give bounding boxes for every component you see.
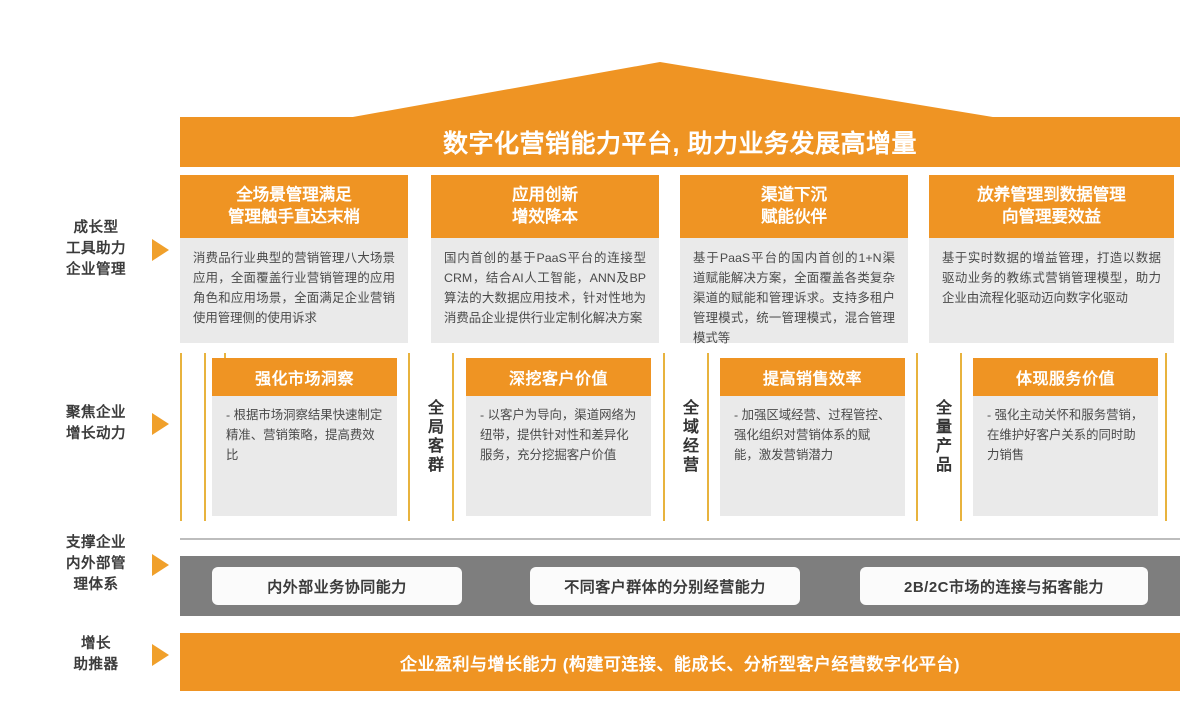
bracket-left-edge [180,353,206,521]
diagram-canvas: 数字化营销能力平台, 助力业务发展高增量 成长型 工具助力 企业管理 聚焦企业 … [0,0,1202,724]
capability-row: 强化市场洞察 - 根据市场洞察结果快速制定精准、营销策略，提高费效比 全局客群 … [180,358,1180,518]
capability-card-title: 提高销售效率 [720,358,905,396]
capability-card[interactable]: 强化市场洞察 - 根据市场洞察结果快速制定精准、营销策略，提高费效比 [212,358,397,516]
top-card-body: 国内首创的基于PaaS平台的连接型CRM，结合AI人工智能，ANN及BP算法的大… [431,238,659,328]
capability-card-body: - 强化主动关怀和服务营销，在维护好客户关系的同时助力销售 [973,396,1158,465]
bracket-label: 全域经营 [665,353,711,521]
capability-card-body: - 以客户为导向，渠道网络为纽带，提供针对性和差异化服务，充分挖掘客户价值 [466,396,651,465]
top-card-title: 渠道下沉 赋能伙伴 [680,175,908,238]
triangle-arrow-icon [152,554,169,576]
axis-label-growth-tools: 成长型 工具助力 企业管理 [48,218,169,281]
support-pill[interactable]: 不同客户群体的分别经营能力 [530,567,800,605]
top-card[interactable]: 全场景管理满足 管理触手直达末梢 消费品行业典型的营销管理八大场景应用，全面覆盖… [180,175,408,343]
bracket-quanju-kequn: 全局客群 [408,353,454,521]
capability-card-title: 强化市场洞察 [212,358,397,396]
support-pill[interactable]: 内外部业务协同能力 [212,567,462,605]
capability-card[interactable]: 深挖客户价值 - 以客户为导向，渠道网络为纽带，提供针对性和差异化服务，充分挖掘… [466,358,651,516]
bracket-label: 全量产品 [918,353,964,521]
capability-card[interactable]: 体现服务价值 - 强化主动关怀和服务营销，在维护好客户关系的同时助力销售 [973,358,1158,516]
top-card-title: 全场景管理满足 管理触手直达末梢 [180,175,408,238]
axis-label-text: 聚焦企业 增长动力 [48,403,144,445]
triangle-arrow-icon [152,239,169,261]
top-card-title: 应用创新 增效降本 [431,175,659,238]
divider-line [180,538,1180,540]
capability-card[interactable]: 提高销售效率 - 加强区域经营、过程管控、强化组织对营销体系的赋能，激发营销潜力 [720,358,905,516]
roof-title: 数字化营销能力平台, 助力业务发展高增量 [443,124,917,160]
triangle-arrow-icon [152,644,169,666]
capability-card-body: - 加强区域经营、过程管控、强化组织对营销体系的赋能，激发营销潜力 [720,396,905,465]
capability-card-body: - 根据市场洞察结果快速制定精准、营销策略，提高费效比 [212,396,397,465]
axis-label-growth-drivers: 聚焦企业 增长动力 [48,403,169,445]
axis-label-text: 支撑企业 内外部管 理体系 [48,533,144,596]
top-card-body: 基于PaaS平台的国内首创的1+N渠道赋能解决方案，全面覆盖各类复杂渠道的赋能和… [680,238,908,348]
axis-label-text: 成长型 工具助力 企业管理 [48,218,144,281]
axis-label-support-system: 支撑企业 内外部管 理体系 [48,533,169,596]
axis-label-text: 增长 助推器 [48,634,144,676]
capability-card-title: 深挖客户价值 [466,358,651,396]
top-card[interactable]: 放养管理到数据管理 向管理要效益 基于实时数据的增益管理，打造以数据驱动业务的教… [929,175,1174,343]
foundation-band: 企业盈利与增长能力 (构建可连接、能成长、分析型客户经营数字化平台) [180,633,1180,691]
top-card-row: 全场景管理满足 管理触手直达末梢 消费品行业典型的营销管理八大场景应用，全面覆盖… [180,175,1180,343]
bracket-label: 全局客群 [410,353,456,521]
bracket-quanyu-jingying: 全域经营 [663,353,709,521]
foundation-label: 企业盈利与增长能力 (构建可连接、能成长、分析型客户经营数字化平台) [400,650,960,675]
bracket-quanliang-chanpin: 全量产品 [916,353,962,521]
axis-label-growth-booster: 增长 助推器 [48,634,169,676]
top-card-body: 基于实时数据的增益管理，打造以数据驱动业务的教练式营销管理模型，助力企业由流程化… [929,238,1174,308]
support-pill[interactable]: 2B/2C市场的连接与拓客能力 [860,567,1148,605]
roof-title-band: 数字化营销能力平台, 助力业务发展高增量 [180,117,1180,167]
top-card[interactable]: 应用创新 增效降本 国内首创的基于PaaS平台的连接型CRM，结合AI人工智能，… [431,175,659,343]
capability-card-title: 体现服务价值 [973,358,1158,396]
bracket-right-edge [1165,353,1202,521]
triangle-arrow-icon [152,413,169,435]
support-band: 内外部业务协同能力 不同客户群体的分别经营能力 2B/2C市场的连接与拓客能力 [180,556,1180,616]
top-card[interactable]: 渠道下沉 赋能伙伴 基于PaaS平台的国内首创的1+N渠道赋能解决方案，全面覆盖… [680,175,908,343]
top-card-title: 放养管理到数据管理 向管理要效益 [929,175,1174,238]
top-card-body: 消费品行业典型的营销管理八大场景应用，全面覆盖行业营销管理的应用角色和应用场景，… [180,238,408,328]
